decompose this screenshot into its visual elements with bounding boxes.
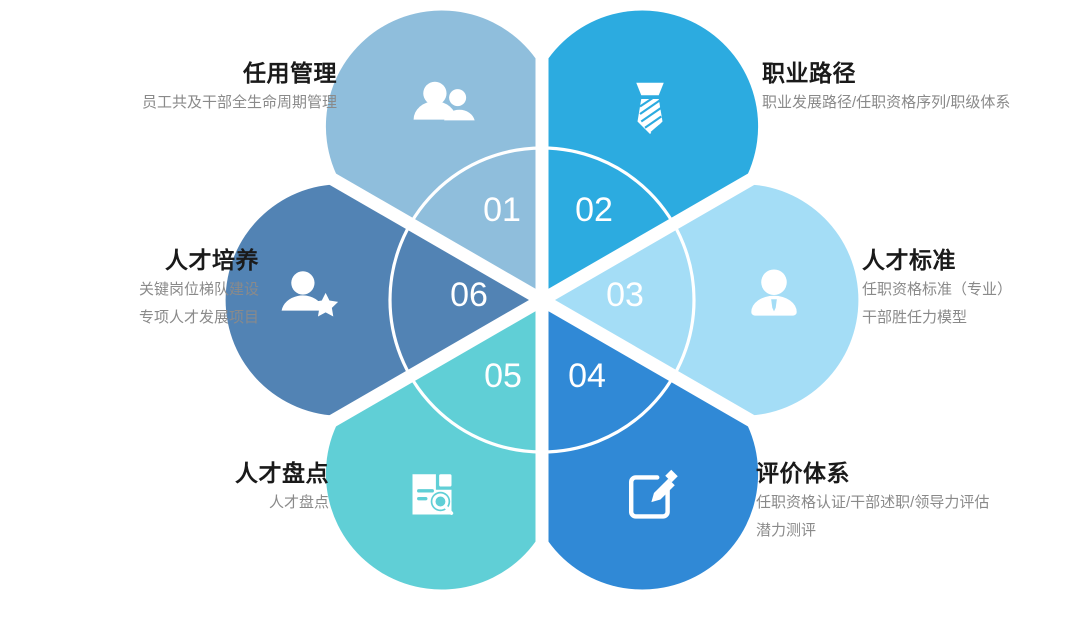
petal-number-02: 02 (575, 191, 613, 229)
label-subtitle-04-1: 潜力测评 (756, 517, 989, 545)
talent-management-infographic: 01 02 03 04 05 06 (0, 0, 1081, 626)
label-block-03: 人才标准 任职资格标准（专业） 干部胜任力模型 (862, 245, 1012, 332)
label-subtitle-03-1: 干部胜任力模型 (862, 304, 1012, 332)
petal-number-05: 05 (484, 357, 522, 395)
petal-number-01: 01 (483, 191, 521, 229)
label-title-06: 人才培养 (139, 245, 259, 276)
label-title-04: 评价体系 (756, 458, 989, 489)
label-block-01: 任用管理 员工共及干部全生命周期管理 (142, 58, 337, 117)
label-subtitle-04-0: 任职资格认证/干部述职/领导力评估 (756, 489, 989, 517)
label-subtitle-02-0: 职业发展路径/任职资格序列/职级体系 (762, 89, 1010, 117)
label-title-03: 人才标准 (862, 245, 1012, 276)
label-title-05: 人才盘点 (235, 458, 329, 489)
label-subtitle-01-0: 员工共及干部全生命周期管理 (142, 89, 337, 117)
document-search-icon (413, 474, 452, 514)
label-block-05: 人才盘点 人才盘点 (235, 458, 329, 517)
label-block-02: 职业路径 职业发展路径/任职资格序列/职级体系 (762, 58, 1010, 117)
petal-number-06: 06 (450, 276, 488, 314)
label-subtitle-05-0: 人才盘点 (235, 489, 329, 517)
label-subtitle-06-0: 关键岗位梯队建设 (139, 276, 259, 304)
label-title-01: 任用管理 (142, 58, 337, 89)
label-title-02: 职业路径 (762, 58, 1010, 89)
label-block-06: 人才培养 关键岗位梯队建设 专项人才发展项目 (139, 245, 259, 332)
petal-number-03: 03 (606, 276, 644, 314)
label-subtitle-06-1: 专项人才发展项目 (139, 304, 259, 332)
label-subtitle-03-0: 任职资格标准（专业） (862, 276, 1012, 304)
petal-number-04: 04 (568, 357, 606, 395)
label-block-04: 评价体系 任职资格认证/干部述职/领导力评估 潜力测评 (756, 458, 989, 545)
